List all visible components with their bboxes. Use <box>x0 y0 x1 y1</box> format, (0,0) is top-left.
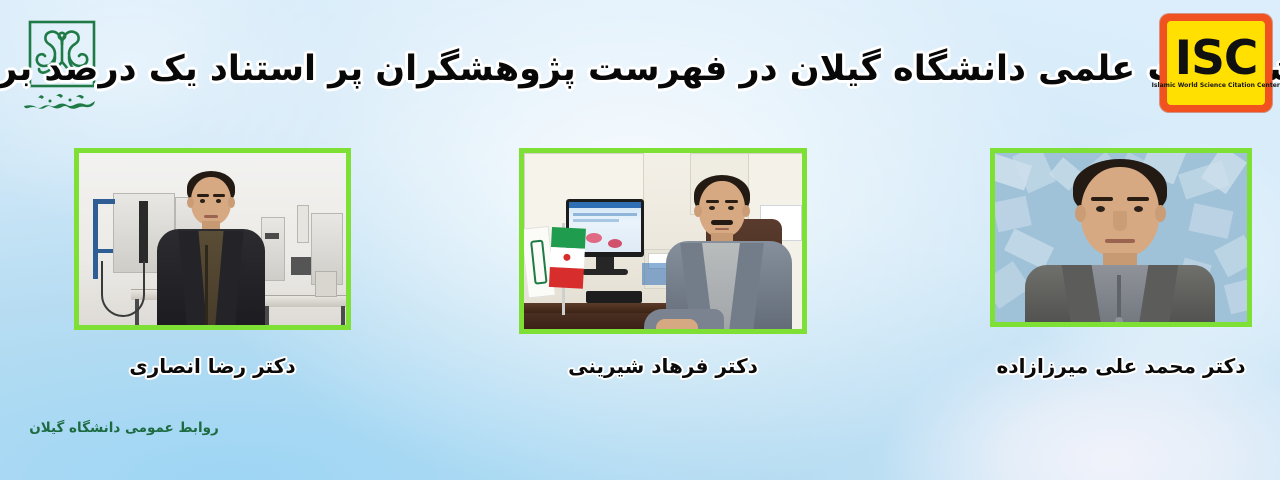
person-caption-3: دکتر محمد علی میرزازاده <box>990 348 1252 384</box>
headline: سه عضو هیات علمی دانشگاه گیلان در فهرست … <box>118 30 1138 110</box>
isc-logo: ISC Islamic World Science Citation Cente… <box>1160 14 1272 112</box>
photo-row <box>0 148 1280 338</box>
isc-logo-frame: ISC Islamic World Science Citation Cente… <box>1160 14 1272 112</box>
person-photo-3-image <box>995 153 1247 322</box>
guilan-wordmark <box>24 94 95 109</box>
person-name-2: دکتر فرهاد شیرینی <box>568 354 758 378</box>
person-photo-2-image <box>524 153 802 329</box>
headline-text: سه عضو هیات علمی دانشگاه گیلان در فهرست … <box>0 48 1280 92</box>
news-banner: سه عضو هیات علمی دانشگاه گیلان در فهرست … <box>0 0 1280 480</box>
person-name-1: دکتر رضا انصاری <box>129 354 295 378</box>
isc-subtitle: Islamic World Science Citation Center <box>1152 82 1280 89</box>
person-name-3: دکتر محمد علی میرزازاده <box>997 354 1246 378</box>
isc-logo-panel: ISC Islamic World Science Citation Cente… <box>1167 21 1265 105</box>
person-photo-1-image <box>79 153 346 325</box>
person-photo-3 <box>990 148 1252 327</box>
person-caption-1: دکتر رضا انصاری <box>74 348 351 384</box>
isc-acronym: ISC <box>1175 37 1258 81</box>
person-caption-2: دکتر فرهاد شیرینی <box>519 348 807 384</box>
footer-credit: روابط عمومی دانشگاه گیلان <box>14 415 234 441</box>
person-photo-2 <box>519 148 807 334</box>
footer-credit-text: روابط عمومی دانشگاه گیلان <box>29 420 219 436</box>
person-photo-1 <box>74 148 351 330</box>
